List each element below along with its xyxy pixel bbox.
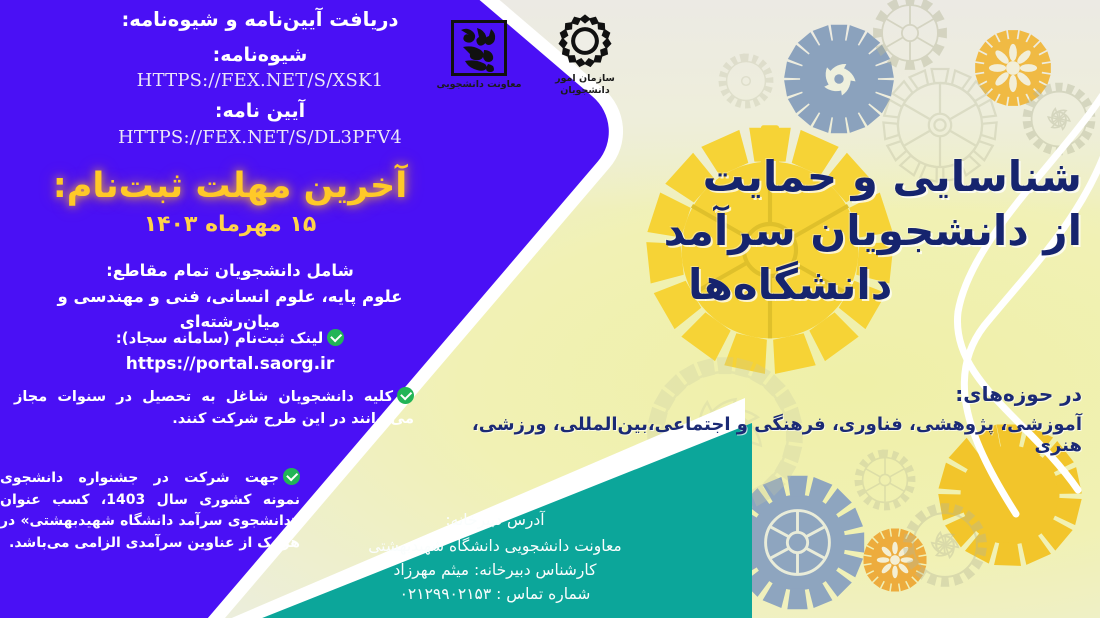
fields-block: در حوزه‌های: آموزشی، پژوهشی، فناوری، فره… (462, 382, 1082, 456)
shivename-label: شیوه‌نامه: (60, 44, 460, 66)
ayinname-url-link[interactable]: HTTPS://FEX.NET/S/DL3PFV4 (60, 127, 460, 148)
bullet-1-text: لینک ثبت‌نام (سامانه سجاد): (116, 329, 323, 347)
title-line-3: دانشگاه‌ها (612, 258, 1082, 312)
secretariat-phone: شماره تماس : ۰۲۱۲۹۹۰۲۱۵۳ (400, 585, 591, 603)
secretariat-block: آدرس دبیرخانه: معاونت دانشجویی دانشگاه ش… (330, 508, 660, 606)
title-line-1: شناسایی و حمایت (703, 152, 1082, 201)
download-heading: دریافت آیین‌نامه و شیوه‌نامه: (60, 8, 460, 32)
saorg-logo-caption-line1: سازمان امور (533, 73, 637, 85)
saorg-emblem-icon (556, 12, 614, 70)
sbu-emblem-icon (451, 20, 507, 76)
shivename-url-link[interactable]: HTTPS://FEX.NET/S/XSK1 (60, 70, 460, 91)
logo-row: معاونت دانشجویی (425, 6, 640, 114)
eligibility-note: شامل دانشجویان تمام مقاطع: علوم پایه، عل… (20, 258, 440, 335)
fields-list: آموزشی، پژوهشی، فناوری، فرهنگی و اجتماعی… (462, 414, 1082, 456)
secretariat-line-1: معاونت دانشجویی دانشگاه شهیدبهشتی (368, 537, 621, 555)
page-title: شناسایی و حمایت از دانشجویان سرآمد دانشگ… (612, 150, 1082, 311)
title-line-2: از دانشجویان سرآمد (664, 206, 1082, 255)
check-icon (283, 468, 300, 485)
fields-heading: در حوزه‌های: (462, 382, 1082, 406)
bullet-2-text: کلیه دانشجویان شاغل به تحصیل در سنوات مج… (14, 389, 414, 427)
bullet-registration-link: لینک ثبت‌نام (سامانه سجاد): https://port… (30, 327, 430, 377)
gear-icon-outline-small-left (710, 45, 782, 117)
eligibility-line-1: شامل دانشجویان تمام مقاطع: (106, 261, 354, 280)
deadline-date: ۱۵ مهرماه ۱۴۰۳ (20, 212, 440, 237)
ayinname-label: آیین نامه: (60, 100, 460, 122)
student-affairs-organization-logo: سازمان امور دانشجویان (533, 12, 637, 97)
bullet-eligible-students: کلیه دانشجویان شاغل به تحصیل در سنوات مج… (14, 387, 414, 431)
secretariat-heading: آدرس دبیرخانه: (330, 508, 660, 532)
saorg-logo-caption-line2: دانشجویان (533, 85, 637, 97)
eligibility-line-2: علوم پایه، علوم انسانی، فنی و مهندسی و م… (58, 287, 403, 332)
shahid-beheshti-university-logo: معاونت دانشجویی (433, 20, 525, 91)
deadline-heading: آخرین مهلت ثبت‌نام: (20, 165, 440, 207)
bullet-festival-requirement: جهت شرکت در جشنواره دانشجوی نمونه کشوری … (0, 468, 300, 555)
check-icon (397, 387, 414, 404)
secretariat-line-2: کارشناس دبیرخانه: میثم مهرزاد (394, 561, 597, 579)
check-icon (327, 329, 344, 346)
bullet-3-text: جهت شرکت در جشنواره دانشجوی نمونه کشوری … (0, 470, 300, 551)
registration-portal-link[interactable]: https://portal.saorg.ir (30, 352, 430, 378)
sbu-logo-caption: معاونت دانشجویی (433, 79, 525, 91)
poster-canvas: دریافت آیین‌نامه و شیوه‌نامه: شیوه‌نامه:… (0, 0, 1100, 618)
